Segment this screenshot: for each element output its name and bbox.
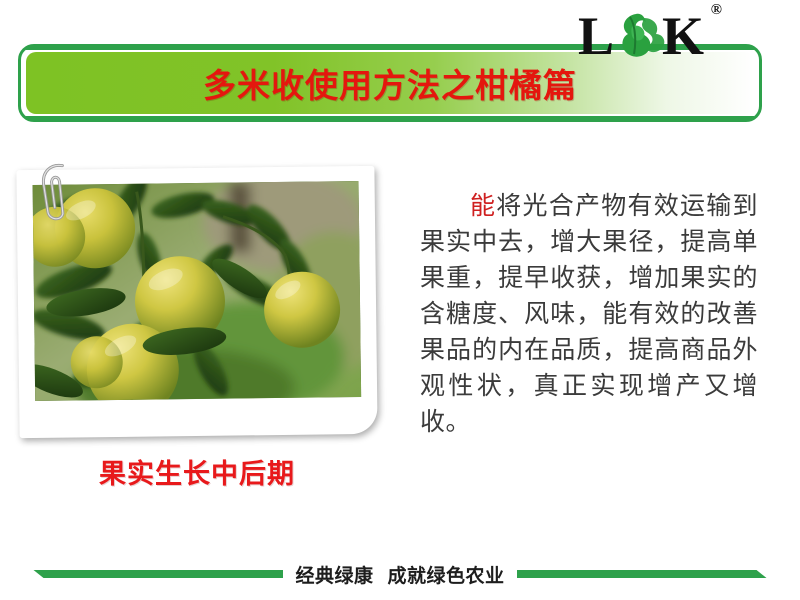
body-text: 将光合产物有效运输到果实中去，增大果径，提高单果重，提早收获，增加果实的含糖度、…	[420, 191, 758, 436]
footer-slogan-right: 成就绿色农业	[388, 565, 505, 587]
body-paragraph: 能将光合产物有效运输到果实中去，增大果径，提高单果重，提早收获，增加果实的含糖度…	[420, 188, 758, 440]
paperclip-icon	[32, 159, 79, 226]
registered-trademark-icon: ®	[711, 2, 722, 19]
footer-rule-left	[33, 570, 283, 578]
citrus-orchard-photo	[33, 181, 362, 401]
footer-slogan: 经典绿康成就绿色农业	[295, 561, 504, 588]
photo-caption: 果实生长中后期	[18, 452, 376, 491]
footer-rule-right	[517, 570, 767, 578]
slide-canvas: 多米收使用方法之柑橘篇 L K ®	[0, 0, 800, 600]
header-banner: 多米收使用方法之柑橘篇 L K ®	[0, 0, 800, 142]
photo-frame	[16, 166, 377, 438]
svg-text:K: K	[662, 6, 704, 66]
brand-logo: L K	[578, 4, 708, 66]
lead-character: 能	[470, 191, 496, 220]
footer: 经典绿康成就绿色农业	[0, 558, 800, 590]
banner-rule-bottom	[26, 116, 754, 120]
svg-text:L: L	[578, 6, 614, 66]
footer-slogan-left: 经典绿康	[295, 565, 373, 587]
